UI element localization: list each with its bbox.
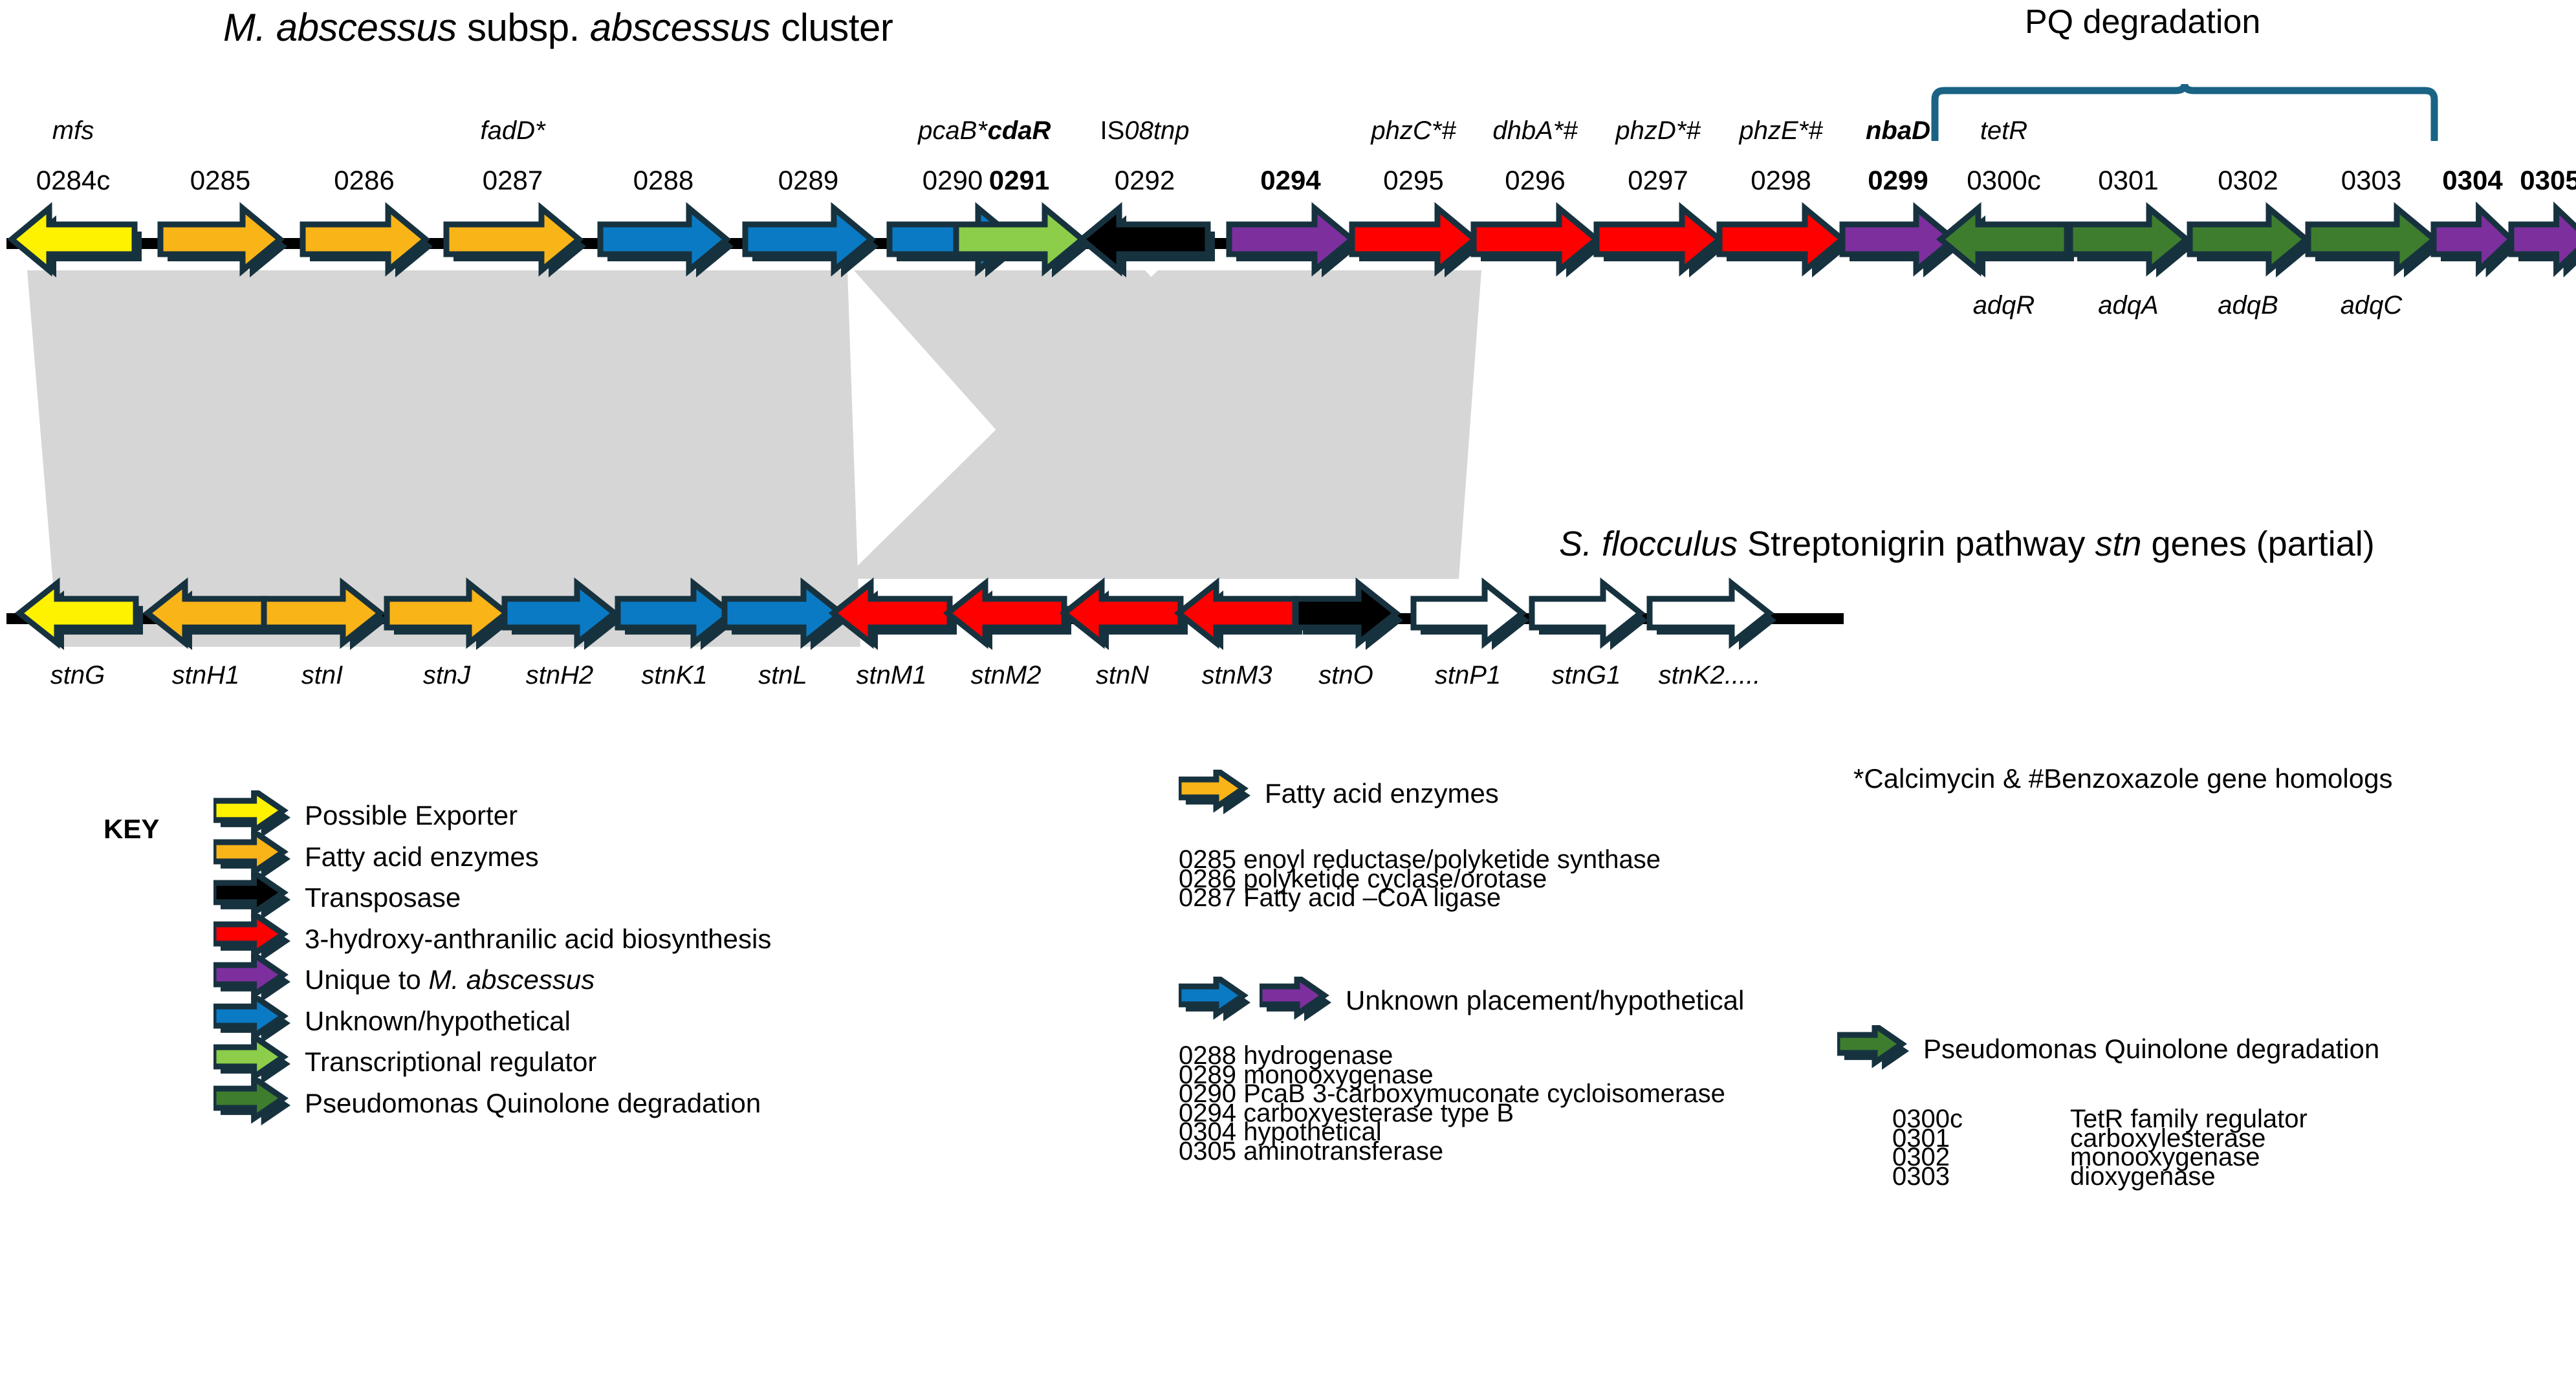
middle-fatty-acid-heading-arrow-shape	[1179, 770, 1250, 814]
gene-id-0302: 0302	[2218, 165, 2278, 196]
gene-arrow-shape-stnJ	[387, 583, 514, 650]
gene-arrow-shape-stnO	[1296, 583, 1403, 650]
gene-arrow-shape-stnM1	[833, 583, 957, 650]
gene-arrow-0289[interactable]	[745, 208, 879, 277]
gene-id-0294: 0294	[1260, 165, 1320, 196]
key-item-label-4: Unique to M. abscessus	[305, 964, 595, 995]
gene-id-0288: 0288	[633, 165, 693, 196]
gene-arrow-shape-0296	[1474, 208, 1604, 277]
gene-arrow-stnM3[interactable]	[1179, 583, 1302, 650]
key-arrow-shape-3	[213, 914, 290, 961]
gene-name-0299: nbaD	[1866, 116, 1930, 146]
gene-arrow-shape-0285	[160, 208, 287, 277]
gene-subname-0301: adqA	[2098, 291, 2158, 320]
pq-row-id-3: 0303	[1892, 1162, 1950, 1191]
gene-arrow-0285[interactable]	[160, 208, 287, 277]
key-arrow-shape-2	[213, 873, 290, 920]
gene-name-0295: phzC*#	[1371, 116, 1456, 146]
bottom-gene-cluster: stnGstnH1stnIstnJstnH2stnK1stnLstnM1stnM…	[0, 569, 2576, 699]
gene-arrow-shape-0287	[446, 208, 586, 277]
gene-arrow-stnK1[interactable]	[618, 583, 738, 650]
gene-name-0292: IS08tnp	[1100, 116, 1190, 146]
key-arrow-shape-0	[213, 790, 290, 838]
middle-unknown-heading-icon	[1179, 977, 1250, 1025]
key-item-label-7: Pseudomonas Quinolone degradation	[305, 1088, 761, 1119]
gene-arrow-shape-0289	[745, 208, 879, 277]
key-arrow-shape-5	[213, 996, 290, 1043]
gene-arrow-shape-stnH2	[505, 583, 622, 650]
gene-arrow-shape-stnK2	[1650, 583, 1776, 650]
gene-arrow-shape-stnL	[725, 583, 848, 650]
key-item-7: Pseudomonas Quinolone degradation	[213, 1078, 761, 1129]
gene-arrow-shape-stnP1	[1414, 583, 1529, 650]
bottom-cluster-stn: stn	[2095, 525, 2141, 563]
gene-id-0286: 0286	[334, 165, 394, 196]
gene-id-0296: 0296	[1505, 165, 1565, 196]
gene-name-stnG1: stnG1	[1552, 661, 1621, 690]
gene-arrow-0286[interactable]	[303, 208, 433, 277]
gene-name-0291: cdaR	[988, 116, 1051, 146]
gene-name-stnK2: stnK2.....	[1659, 661, 1761, 690]
gene-id-0291: 0291	[989, 165, 1049, 196]
gene-arrow-0287[interactable]	[446, 208, 586, 277]
gene-arrow-0303[interactable]	[2308, 208, 2441, 277]
gene-name-stnL: stnL	[758, 661, 807, 690]
gene-name-stnH2: stnH2	[526, 661, 594, 690]
gene-arrow-shape-0300c	[1941, 208, 2074, 277]
key-arrow-icon-7	[213, 1078, 290, 1129]
homolog-footnote: *Calcimycin & #Benzoxazole gene homologs	[1853, 763, 2392, 794]
gene-subname-0300c: adqR	[1973, 291, 2035, 320]
gene-id-0297: 0297	[1628, 165, 1688, 196]
gene-arrow-0297[interactable]	[1597, 208, 1727, 277]
right-pq-heading-label: Pseudomonas Quinolone degradation	[1923, 1034, 2379, 1065]
gene-name-stnM2: stnM2	[971, 661, 1042, 690]
key-arrow-shape-6	[213, 1037, 290, 1084]
gene-arrow-shape-0303	[2308, 208, 2441, 277]
gene-id-0292: 0292	[1115, 165, 1175, 196]
gene-name-0298: phzE*#	[1740, 116, 1823, 146]
key-item-label-5: Unknown/hypothetical	[305, 1006, 571, 1037]
gene-arrow-shape-stnG	[19, 583, 143, 650]
gene-arrow-0298[interactable]	[1719, 208, 1850, 277]
key-item-label-2: Transposase	[305, 882, 461, 913]
key-arrow-shape-4	[213, 955, 290, 1002]
gene-arrow-0295[interactable]	[1352, 208, 1482, 277]
bottom-cluster-organism: S. flocculus	[1559, 525, 1738, 563]
gene-id-0287: 0287	[483, 165, 543, 196]
gene-id-0289: 0289	[778, 165, 838, 196]
gene-name-0296: dhbA*#	[1492, 116, 1577, 146]
gene-arrow-0304[interactable]	[2434, 208, 2518, 277]
gene-arrow-shape-0297	[1597, 208, 1727, 277]
gene-arrow-shape-0295	[1352, 208, 1482, 277]
gene-name-stnK1: stnK1	[641, 661, 707, 690]
gene-arrow-shape-0286	[303, 208, 433, 277]
gene-arrow-0300c[interactable]	[1941, 208, 2074, 277]
top-gene-cluster: mfs0284c02850286fadD*028702880289pcaB*02…	[0, 0, 2576, 362]
gene-arrow-shape-0294	[1229, 208, 1359, 277]
gene-id-0290: 0290	[922, 165, 983, 196]
gene-arrow-shape-0292	[1082, 208, 1215, 277]
gene-arrow-shape-stnM3	[1179, 583, 1302, 650]
middle-fatty-acid-heading-label: Fatty acid enzymes	[1265, 778, 1499, 809]
gene-arrow-shape-0298	[1719, 208, 1850, 277]
key-item-label-1: Fatty acid enzymes	[305, 841, 539, 873]
gene-arrow-0301[interactable]	[2070, 208, 2194, 277]
right-pq-heading: Pseudomonas Quinolone degradation	[1837, 1025, 2379, 1073]
gene-arrow-shape-stnI	[264, 583, 387, 650]
gene-arrow-0284c[interactable]	[12, 208, 142, 277]
unknown-line-5: 0305 aminotransferase	[1179, 1137, 1443, 1166]
gene-arrow-shape-0288	[600, 208, 734, 277]
gene-name-stnM3: stnM3	[1202, 661, 1272, 690]
gene-arrow-0294[interactable]	[1229, 208, 1359, 277]
gene-name-0284c: mfs	[52, 116, 94, 146]
gene-id-0303: 0303	[2341, 165, 2401, 196]
gene-arrow-stnP1[interactable]	[1414, 583, 1529, 650]
right-pq-arrow-icon	[1837, 1025, 1909, 1073]
middle-unknown-heading: Unknown placement/hypothetical	[1179, 977, 1744, 1025]
key-item-label-0: Possible Exporter	[305, 800, 518, 831]
bottom-cluster-title: S. flocculus Streptonigrin pathway stn g…	[1559, 524, 2375, 564]
gene-arrow-shape-0284c	[12, 208, 142, 277]
gene-arrow-stnM2[interactable]	[948, 583, 1071, 650]
gene-name-stnM1: stnM1	[857, 661, 927, 690]
gene-arrow-stnH1[interactable]	[147, 583, 271, 650]
gene-name-stnP1: stnP1	[1435, 661, 1501, 690]
gene-subname-0303: adqC	[2341, 291, 2403, 320]
right-pq-arrow-shape	[1837, 1025, 1909, 1070]
gene-arrow-0292[interactable]	[1082, 208, 1215, 277]
gene-subname-0302: adqB	[2218, 291, 2278, 320]
gene-arrow-0305[interactable]	[2511, 208, 2576, 277]
gene-arrow-shape-0291	[956, 208, 1089, 277]
pq-row-desc-3: dioxygenase	[2070, 1162, 2216, 1191]
gene-name-stnG: stnG	[50, 661, 105, 690]
gene-arrow-0291[interactable]	[956, 208, 1089, 277]
gene-name-stnO: stnO	[1318, 661, 1373, 690]
bottom-cluster-suffix: genes (partial)	[2142, 525, 2375, 563]
gene-id-0301: 0301	[2098, 165, 2158, 196]
gene-arrow-stnI[interactable]	[264, 583, 387, 650]
fatty-acid-line-2: 0287 Fatty acid –CoA ligase	[1179, 884, 1501, 913]
gene-arrow-shape-stnN	[1064, 583, 1188, 650]
gene-name-stnI: stnI	[301, 661, 343, 690]
gene-arrow-shape-0304	[2434, 208, 2518, 277]
middle-unknown-heading-arrow-shape	[1179, 977, 1250, 1021]
gene-id-0298: 0298	[1751, 165, 1811, 196]
gene-arrow-shape-0305	[2511, 208, 2576, 277]
gene-id-0304: 0304	[2442, 165, 2502, 196]
bottom-cluster-pathway: Streptonigrin pathway	[1738, 525, 2095, 563]
gene-name-0290: pcaB*	[918, 116, 987, 146]
gene-arrow-stnL[interactable]	[725, 583, 848, 650]
gene-name-stnN: stnN	[1096, 661, 1149, 690]
gene-arrow-stnJ[interactable]	[387, 583, 514, 650]
gene-name-0287: fadD*	[480, 116, 545, 146]
gene-arrow-stnN[interactable]	[1064, 583, 1188, 650]
gene-arrow-0302[interactable]	[2190, 208, 2313, 277]
key-item-label-3: 3-hydroxy-anthranilic acid biosynthesis	[305, 924, 771, 955]
gene-arrow-shape-0302	[2190, 208, 2313, 277]
middle-fatty-acid-heading-icon	[1179, 770, 1250, 818]
gene-arrow-shape-stnM2	[948, 583, 1071, 650]
gene-arrow-0296[interactable]	[1474, 208, 1604, 277]
key-arrow-shape-7	[213, 1078, 290, 1125]
gene-name-stnJ: stnJ	[423, 661, 470, 690]
gene-arrow-shape-0301	[2070, 208, 2194, 277]
gene-arrow-shape-stnK1	[618, 583, 738, 650]
gene-arrow-0288[interactable]	[600, 208, 734, 277]
gene-arrow-stnK2[interactable]	[1650, 583, 1776, 650]
gene-id-0295: 0295	[1383, 165, 1443, 196]
key-heading: KEY	[104, 814, 159, 845]
middle-unknown-heading-arrow-shape-2	[1260, 977, 1331, 1021]
gene-id-0285: 0285	[190, 165, 250, 196]
gene-id-0300c: 0300c	[1967, 165, 2040, 196]
gene-arrow-shape-stnG1	[1532, 583, 1648, 650]
middle-fatty-acid-heading: Fatty acid enzymes	[1179, 770, 1499, 818]
middle-unknown-heading-label: Unknown placement/hypothetical	[1346, 985, 1744, 1016]
middle-unknown-heading-icon-2	[1260, 977, 1331, 1025]
gene-arrow-stnO[interactable]	[1296, 583, 1403, 650]
gene-name-stnH1: stnH1	[172, 661, 240, 690]
key-item-label-6: Transcriptional regulator	[305, 1046, 596, 1078]
gene-name-0297: phzD*#	[1615, 116, 1700, 146]
gene-name-0300c: tetR	[1980, 116, 2027, 146]
gene-id-0305: 0305	[2520, 165, 2576, 196]
gene-arrow-stnM1[interactable]	[833, 583, 957, 650]
gene-arrow-stnG1[interactable]	[1532, 583, 1648, 650]
gene-id-0299: 0299	[1868, 165, 1928, 196]
gene-arrow-stnH2[interactable]	[505, 583, 622, 650]
gene-id-0284c: 0284c	[36, 165, 110, 196]
gene-arrow-shape-stnH1	[147, 583, 271, 650]
key-arrow-shape-1	[213, 832, 290, 879]
gene-arrow-stnG[interactable]	[19, 583, 143, 650]
